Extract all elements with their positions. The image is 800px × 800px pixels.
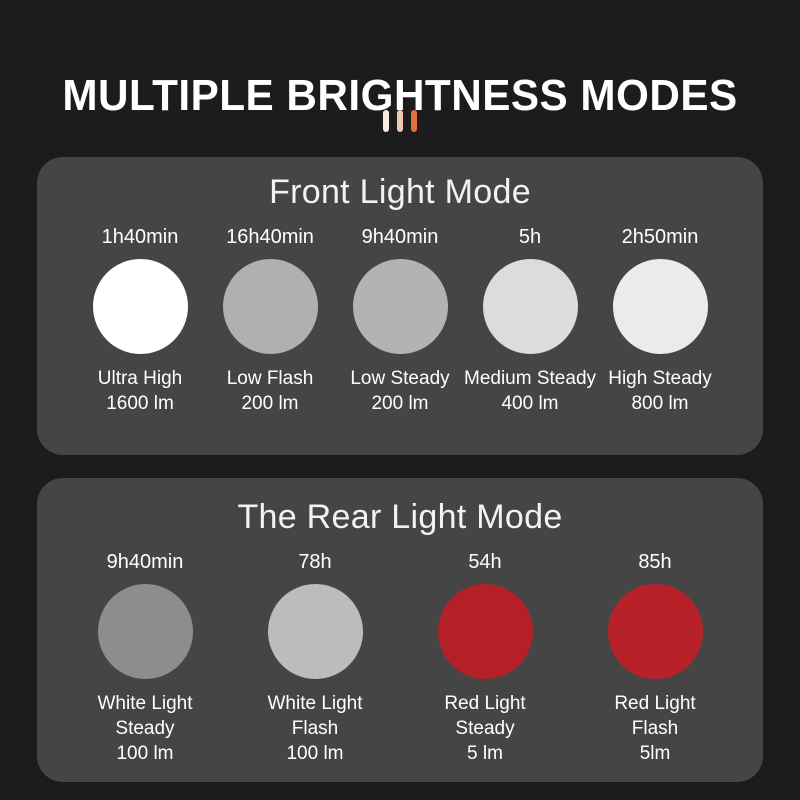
mode-duration: 78h xyxy=(298,551,331,573)
mode-duration: 9h40min xyxy=(107,551,184,573)
accent-bar-3-icon xyxy=(411,110,417,132)
mode-label: White Light Flash xyxy=(267,691,362,741)
mode-duration: 5h xyxy=(519,226,541,248)
mode-label: Red Light Flash xyxy=(614,691,695,741)
mode-lumens: 1600 lm xyxy=(106,391,174,416)
mode-list-front: 1h40min Ultra High 1600 lm 16h40min Low … xyxy=(37,226,763,416)
mode-list-rear: 9h40min White Light Steady 100 lm 78h Wh… xyxy=(37,551,763,766)
mode-cell-low-flash[interactable]: 16h40min Low Flash 200 lm xyxy=(205,226,335,416)
accent-bars-decoration xyxy=(0,110,800,132)
mode-label: Low Steady xyxy=(350,366,449,391)
mode-lumens: 400 lm xyxy=(501,391,558,416)
mode-duration: 2h50min xyxy=(622,226,699,248)
mode-lumens: 200 lm xyxy=(241,391,298,416)
mode-label: High Steady xyxy=(608,366,712,391)
mode-cell-white-light-steady[interactable]: 9h40min White Light Steady 100 lm xyxy=(60,551,230,766)
brightness-dot-icon xyxy=(98,584,193,679)
panel-front-light-mode: Front Light Mode 1h40min Ultra High 1600… xyxy=(37,157,763,455)
mode-lumens: 5lm xyxy=(640,741,671,766)
brightness-dot-icon xyxy=(353,259,448,354)
mode-lumens: 100 lm xyxy=(116,741,173,766)
mode-lumens: 5 lm xyxy=(467,741,503,766)
mode-cell-white-light-flash[interactable]: 78h White Light Flash 100 lm xyxy=(230,551,400,766)
panel-heading-rear: The Rear Light Mode xyxy=(37,498,763,537)
mode-lumens: 200 lm xyxy=(371,391,428,416)
brightness-dot-icon xyxy=(613,259,708,354)
mode-label: White Light Steady xyxy=(97,691,192,741)
mode-label: Ultra High xyxy=(98,366,182,391)
mode-duration: 85h xyxy=(638,551,671,573)
mode-duration: 54h xyxy=(468,551,501,573)
brightness-dot-icon xyxy=(268,584,363,679)
mode-cell-red-light-steady[interactable]: 54h Red Light Steady 5 lm xyxy=(400,551,570,766)
mode-cell-high-steady[interactable]: 2h50min High Steady 800 lm xyxy=(595,226,725,416)
mode-lumens: 100 lm xyxy=(286,741,343,766)
accent-bar-2-icon xyxy=(397,110,403,132)
mode-cell-red-light-flash[interactable]: 85h Red Light Flash 5lm xyxy=(570,551,740,766)
mode-label: Medium Steady xyxy=(464,366,596,391)
brightness-dot-icon xyxy=(483,259,578,354)
mode-cell-medium-steady[interactable]: 5h Medium Steady 400 lm xyxy=(465,226,595,416)
mode-duration: 9h40min xyxy=(362,226,439,248)
mode-duration: 16h40min xyxy=(226,226,314,248)
brightness-dot-icon xyxy=(438,584,533,679)
accent-bar-1-icon xyxy=(383,110,389,132)
mode-duration: 1h40min xyxy=(102,226,179,248)
panel-heading-front: Front Light Mode xyxy=(37,173,763,212)
mode-label: Red Light Steady xyxy=(444,691,525,741)
mode-label: Low Flash xyxy=(227,366,314,391)
mode-cell-ultra-high[interactable]: 1h40min Ultra High 1600 lm xyxy=(75,226,205,416)
mode-lumens: 800 lm xyxy=(631,391,688,416)
brightness-dot-icon xyxy=(93,259,188,354)
brightness-dot-icon xyxy=(608,584,703,679)
brightness-dot-icon xyxy=(223,259,318,354)
panel-rear-light-mode: The Rear Light Mode 9h40min White Light … xyxy=(37,478,763,782)
mode-cell-low-steady[interactable]: 9h40min Low Steady 200 lm xyxy=(335,226,465,416)
